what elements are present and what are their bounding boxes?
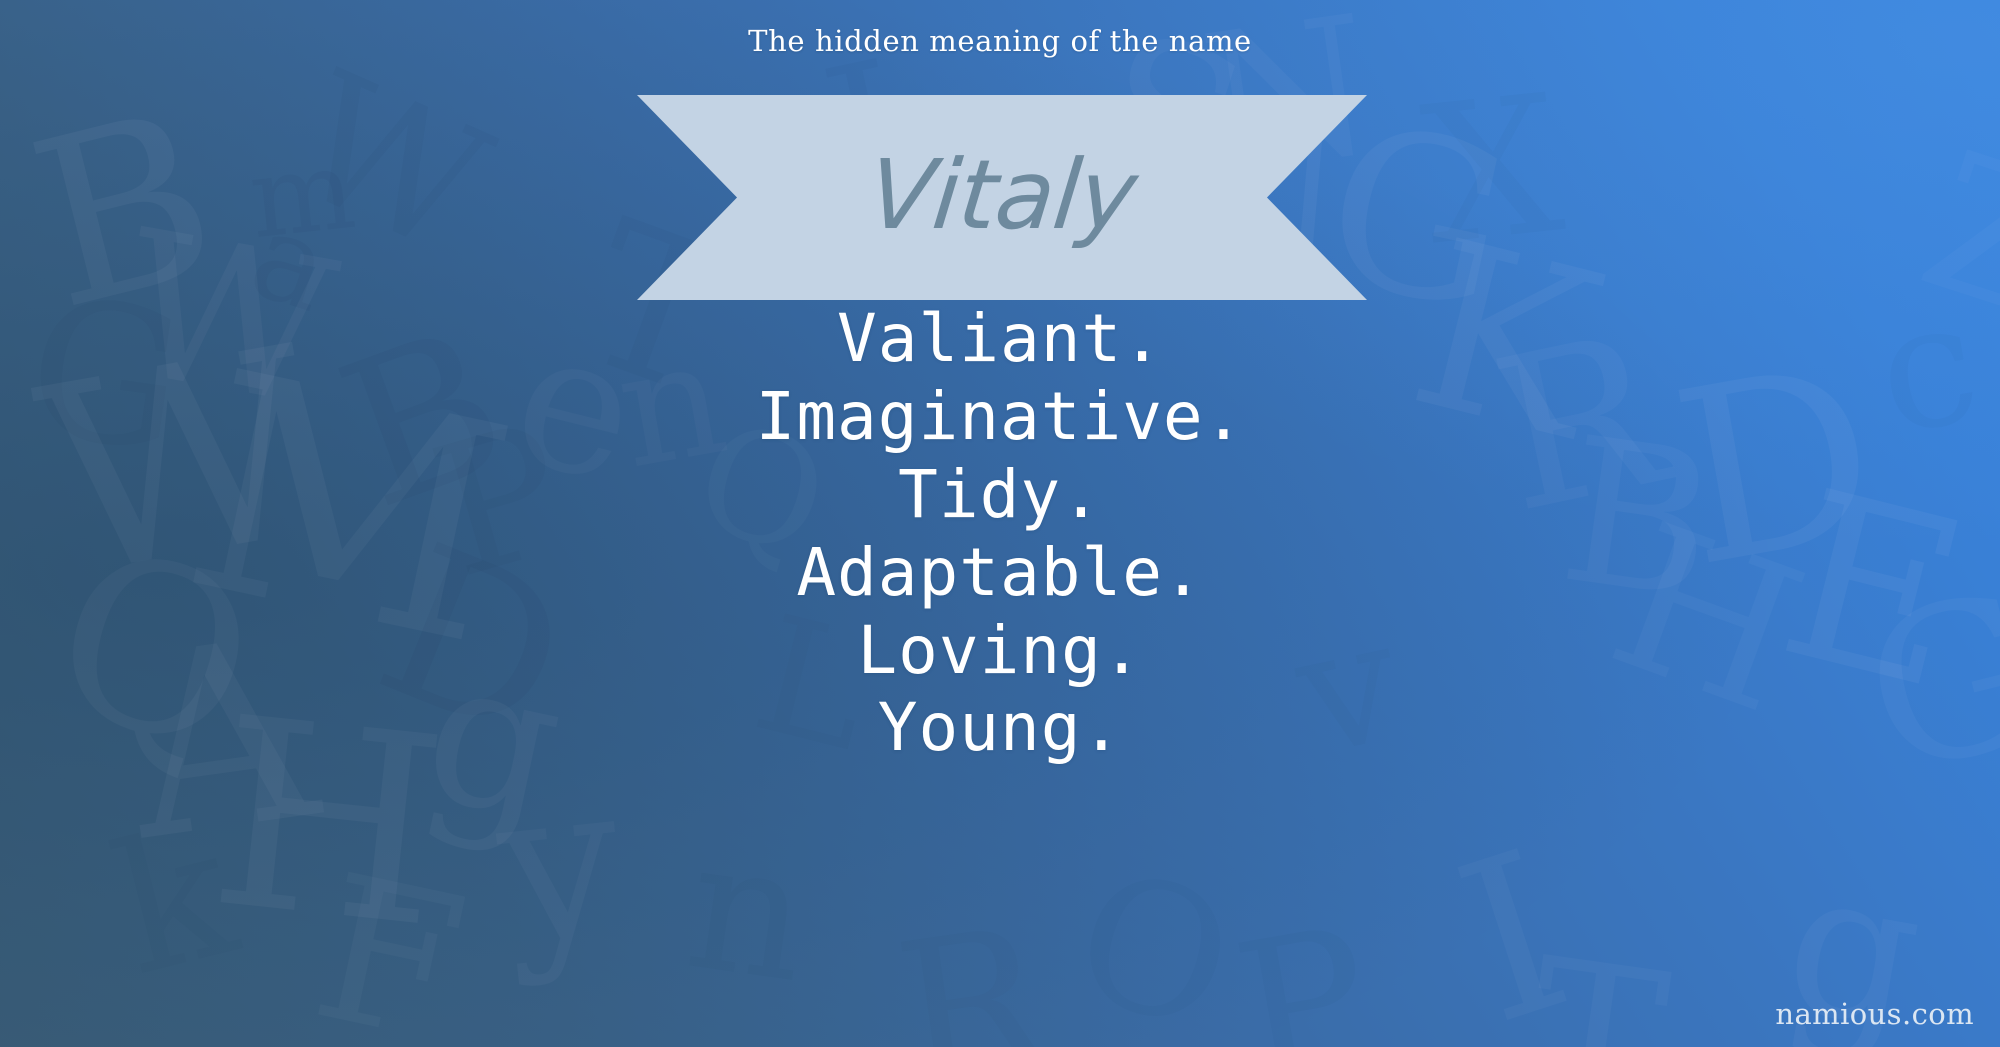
site-watermark: namious.com: [1775, 997, 1974, 1031]
trait-item: Loving.: [0, 612, 2000, 690]
background-letter: I: [1445, 841, 1582, 1035]
background-letter: y: [492, 774, 628, 953]
trait-item: Imaginative.: [0, 378, 2000, 456]
background-letter: W: [279, 64, 500, 265]
background-letter: F: [305, 867, 474, 1047]
background-letter: O: [1063, 862, 1245, 1041]
background-letter: X: [1417, 88, 1567, 253]
name-text: Vitaly: [626, 95, 1378, 300]
trait-item: Adaptable.: [0, 534, 2000, 612]
background-letter: P: [1228, 920, 1380, 1047]
trait-item: Tidy.: [0, 456, 2000, 534]
background-letter: k: [104, 819, 245, 985]
background-letter: m: [246, 145, 359, 243]
name-meaning-card: BWmaWGWMBQAHDPgyenTnJQSNAVGXKRBDEHGgITPO…: [0, 0, 2000, 1047]
background-letter: n: [681, 833, 816, 992]
trait-item: Valiant.: [0, 300, 2000, 378]
trait-list: Valiant. Imaginative. Tidy. Adaptable. L…: [0, 300, 2000, 767]
name-ribbon-banner: Vitaly: [637, 95, 1367, 300]
trait-item: Young.: [0, 689, 2000, 767]
background-letter: B: [20, 102, 229, 321]
background-letter: R: [890, 921, 1053, 1047]
background-letter: T: [1520, 951, 1674, 1047]
page-title: The hidden meaning of the name: [0, 24, 2000, 58]
